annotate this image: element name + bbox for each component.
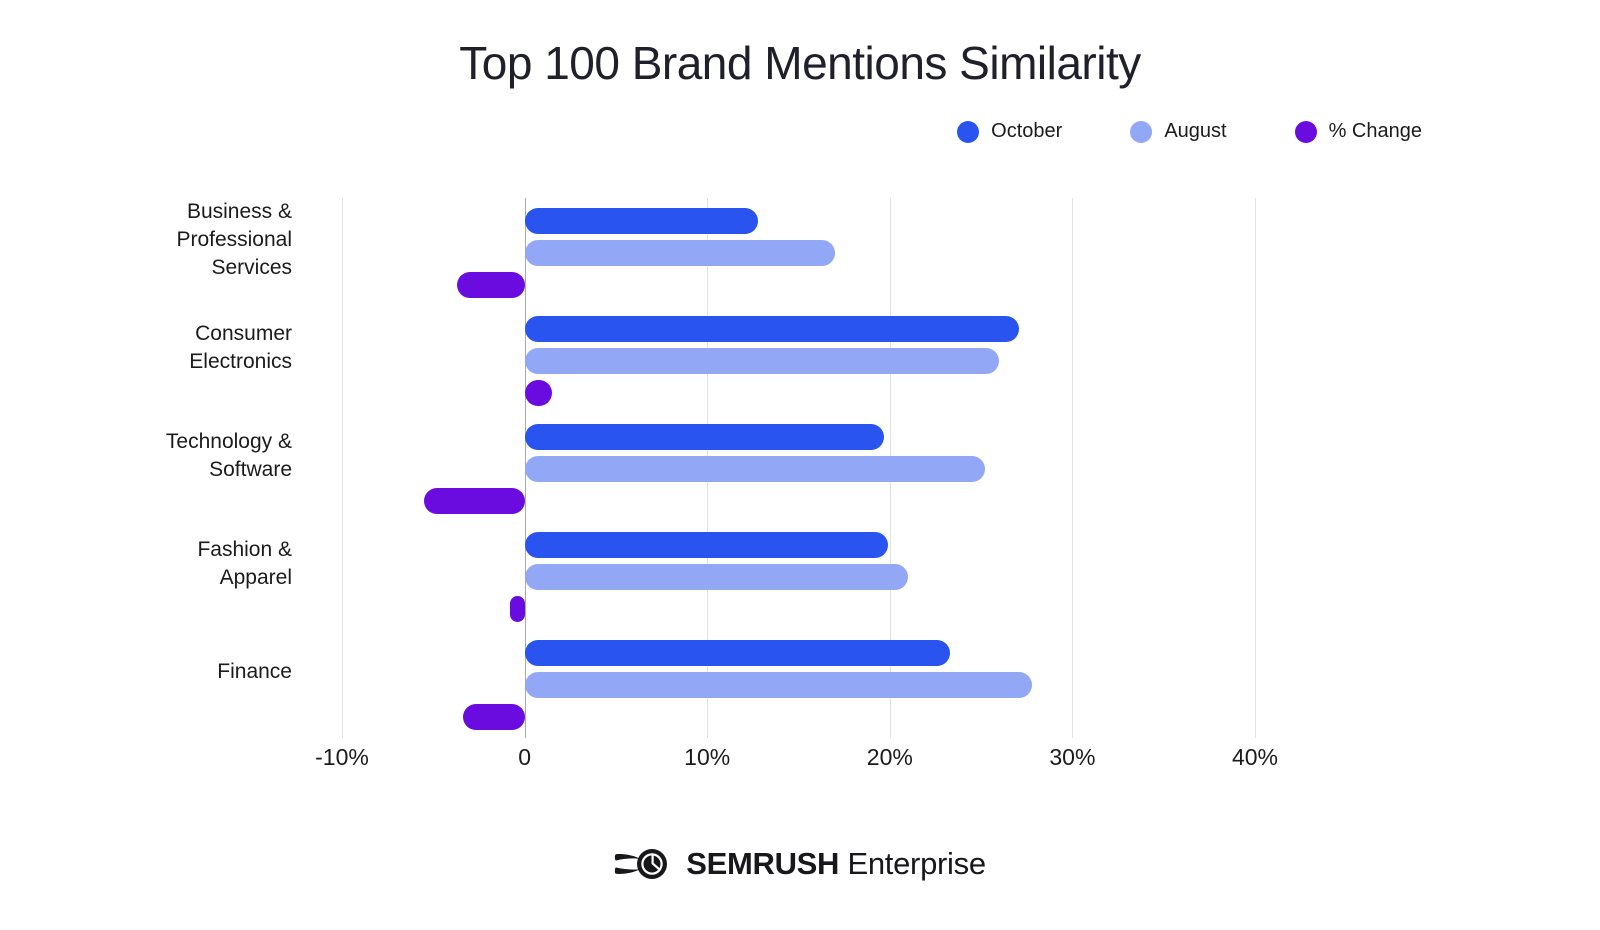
bar-october-business-professional-services[interactable] xyxy=(525,208,759,234)
x-axis-tick-labels: -10%010%20%30%40% xyxy=(342,744,1255,784)
gridline-40 xyxy=(1255,198,1256,738)
bar-august-finance[interactable] xyxy=(525,672,1033,698)
x-axis-tick-label-30: 30% xyxy=(1049,744,1095,771)
bar-change-fashion-apparel[interactable] xyxy=(510,596,525,622)
bar-october-technology-software[interactable] xyxy=(525,424,885,450)
x-axis-tick-label--10: -10% xyxy=(315,744,369,771)
footer-brand-name: SEMRUSH xyxy=(686,846,839,881)
bar-group-row xyxy=(342,630,1255,738)
bar-change-consumer-electronics[interactable] xyxy=(525,380,552,406)
bar-group-row xyxy=(342,306,1255,414)
x-axis-tick-label-0: 0 xyxy=(518,744,531,771)
bar-change-finance[interactable] xyxy=(463,704,525,730)
bar-rows xyxy=(342,198,1255,738)
bar-change-business-professional-services[interactable] xyxy=(457,272,525,298)
bar-change-technology-software[interactable] xyxy=(424,488,524,514)
bar-group-row xyxy=(342,414,1255,522)
bar-october-finance[interactable] xyxy=(525,640,950,666)
bar-august-business-professional-services[interactable] xyxy=(525,240,835,266)
bar-august-fashion-apparel[interactable] xyxy=(525,564,908,590)
bar-august-technology-software[interactable] xyxy=(525,456,985,482)
x-axis-tick-label-40: 40% xyxy=(1232,744,1278,771)
footer-branding: SEMRUSH Enterprise xyxy=(0,846,1600,882)
x-axis-tick-label-20: 20% xyxy=(867,744,913,771)
plot-area xyxy=(342,198,1255,738)
x-axis-tick-label-10: 10% xyxy=(684,744,730,771)
bar-october-fashion-apparel[interactable] xyxy=(525,532,888,558)
bar-group-row xyxy=(342,198,1255,306)
bar-october-consumer-electronics[interactable] xyxy=(525,316,1020,342)
bar-august-consumer-electronics[interactable] xyxy=(525,348,1000,374)
footer-product-name: Enterprise xyxy=(847,846,985,881)
bar-chart xyxy=(0,0,1600,930)
bar-group-row xyxy=(342,522,1255,630)
footer-logo-text: SEMRUSH Enterprise xyxy=(686,846,986,882)
semrush-logo-icon xyxy=(614,847,672,881)
